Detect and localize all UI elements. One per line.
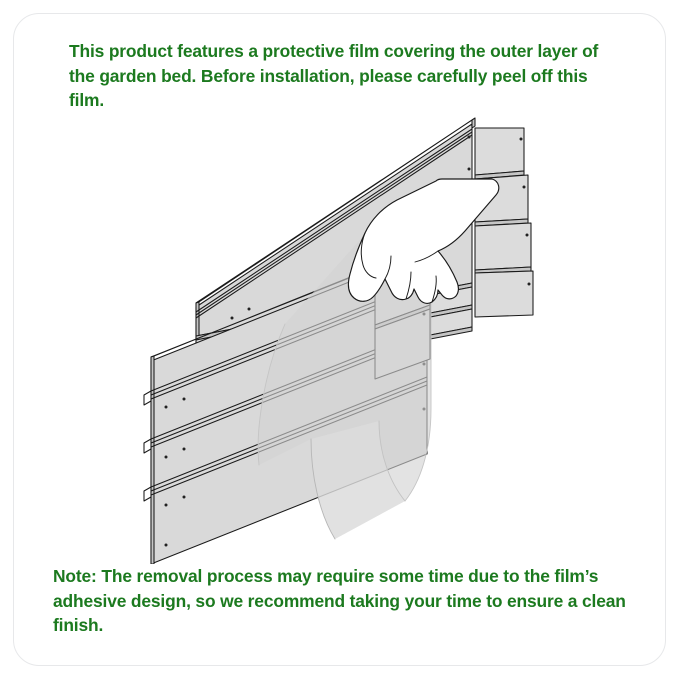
note-instruction-text: Note: The removal process may require so… <box>53 564 631 638</box>
intro-instruction-text: This product features a protective film … <box>69 39 614 113</box>
garden-bed-film-illustration <box>139 109 559 564</box>
instruction-card: This product features a protective film … <box>13 13 666 666</box>
